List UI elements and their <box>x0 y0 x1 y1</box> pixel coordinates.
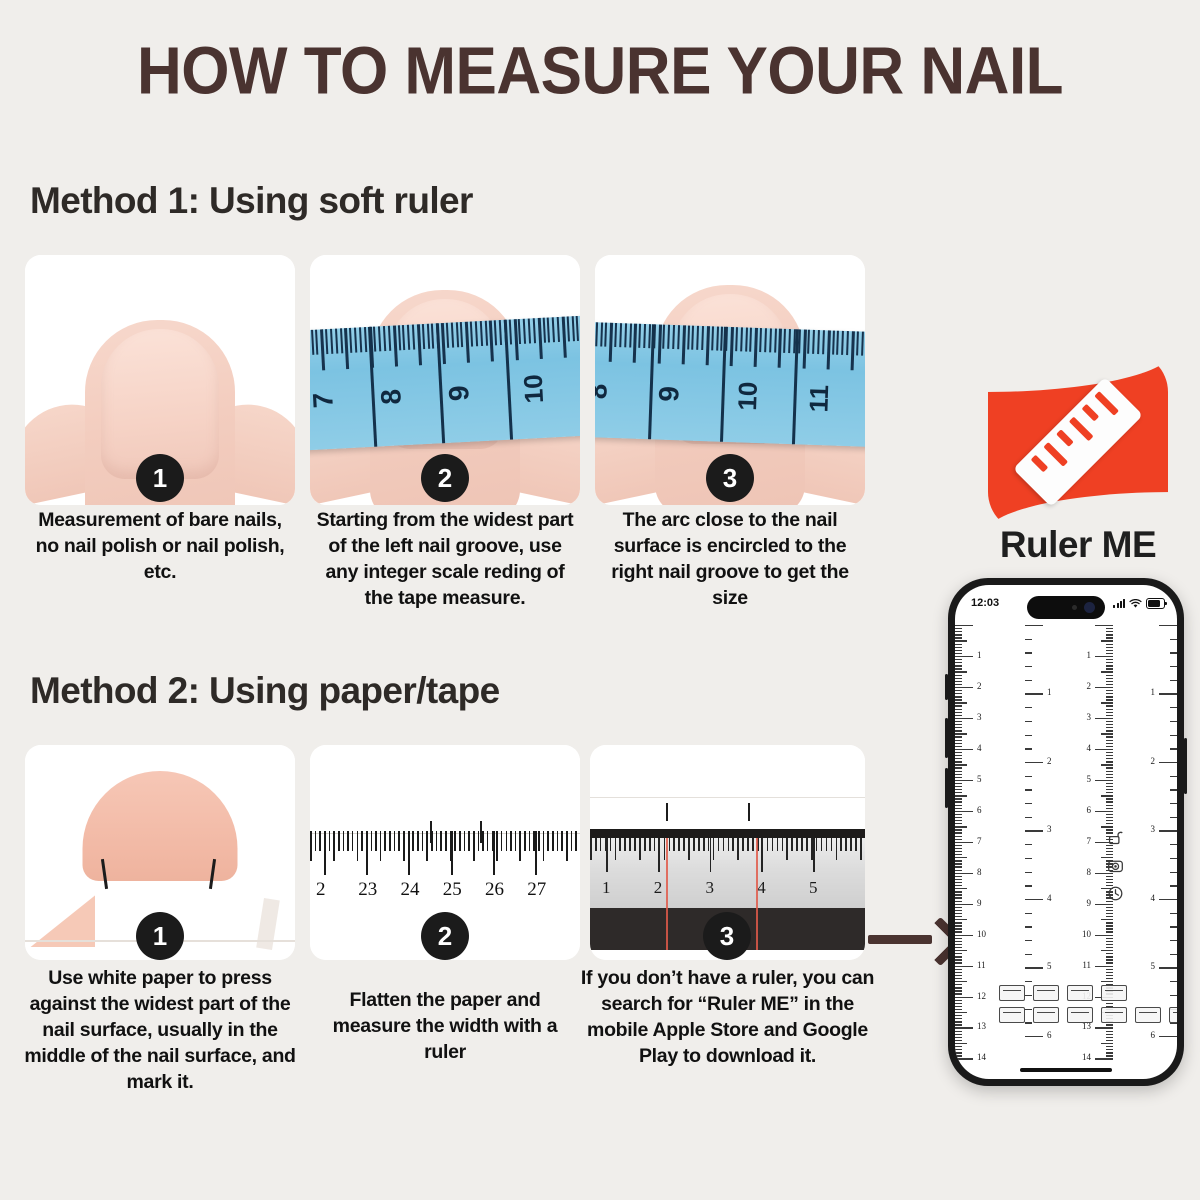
ruler-tick <box>519 831 521 861</box>
ruler-tick <box>683 838 685 851</box>
chip[interactable] <box>1033 1007 1059 1023</box>
ruler-tick <box>1106 953 1113 954</box>
ruler-tick <box>955 1043 967 1044</box>
ruler-number: 6 <box>1047 1030 1052 1040</box>
ruler-number: 27 <box>527 879 546 901</box>
ruler-tick <box>468 831 470 851</box>
ruler-tick <box>361 831 363 851</box>
ruler-tick <box>1025 735 1032 736</box>
ruler-tick <box>1106 879 1113 880</box>
ruler-tick <box>955 938 962 939</box>
tape-tick <box>769 328 772 352</box>
ruler-tick <box>1095 718 1113 719</box>
ruler-tick <box>389 831 391 851</box>
ruler-tick <box>955 801 962 802</box>
ruler-tick <box>1106 767 1113 768</box>
ruler-tick <box>1106 916 1113 917</box>
ruler-tick <box>1025 885 1032 886</box>
tape-tick <box>412 325 415 350</box>
ruler-tick <box>1106 774 1113 775</box>
ruler-tick <box>816 838 818 851</box>
ruler-tick <box>955 665 962 666</box>
ruler-tick <box>1106 854 1113 855</box>
ruler-tick <box>1170 721 1177 722</box>
ruler-tick <box>343 831 345 851</box>
ruler-tick <box>1025 858 1032 859</box>
tape-tick <box>697 326 700 350</box>
ruler-tick <box>1106 922 1113 923</box>
ruler-tick <box>431 831 433 851</box>
ruler-tick <box>955 925 962 926</box>
ruler-number: 13 <box>977 1021 986 1031</box>
ruler-tick <box>955 1021 962 1022</box>
tape-tick <box>856 331 859 355</box>
ruler-tick <box>718 838 720 851</box>
ruler-tick <box>955 1052 962 1053</box>
ruler-major-tick <box>493 831 495 875</box>
ruler-tick <box>352 831 354 851</box>
ruler-number: 4 <box>757 878 766 898</box>
ruler-tick <box>955 919 967 920</box>
ruler-tick <box>619 838 621 851</box>
ruler-tick <box>1170 707 1177 708</box>
ruler-tick <box>850 838 852 851</box>
tape-tick <box>523 319 526 344</box>
ruler-tick <box>1106 662 1113 663</box>
ruler-tick <box>955 1031 962 1032</box>
ruler-tick <box>1106 752 1113 753</box>
chip[interactable] <box>999 985 1025 1001</box>
ruler-tick <box>1106 634 1113 635</box>
ruler-tick <box>955 1034 962 1035</box>
ruler-tick <box>515 831 517 851</box>
tape-tick <box>677 325 680 349</box>
ruler-tick <box>1106 801 1113 802</box>
tape-tick <box>600 322 603 346</box>
ruler-major-tick <box>535 831 537 875</box>
ruler-tick <box>1106 690 1113 691</box>
ruler-tick <box>538 831 540 851</box>
ruler-number: 10 <box>977 929 986 939</box>
ruler-tick <box>524 831 526 851</box>
ruler-tick <box>955 786 962 787</box>
ruler-tick <box>1106 777 1113 778</box>
tape-tick <box>614 323 617 347</box>
ruler-tick <box>1025 872 1032 873</box>
ruler-tick <box>1106 1031 1113 1032</box>
ruler-tick <box>955 873 973 874</box>
ruler-number: 9 <box>1087 898 1092 908</box>
paper-top <box>310 745 580 834</box>
ruler-number: 2 <box>316 879 326 901</box>
ruler-tick <box>955 916 962 917</box>
ruler-tick <box>1025 748 1032 749</box>
ruler-tick <box>1106 798 1113 799</box>
ruler-tick <box>955 820 962 821</box>
ruler-tick <box>955 997 973 998</box>
chip[interactable] <box>1101 1007 1127 1023</box>
ruler-tick <box>1025 844 1032 845</box>
ruler-number: 26 <box>485 879 504 901</box>
ruler-tick <box>955 653 962 654</box>
chip[interactable] <box>1067 1007 1093 1023</box>
ruler-tick <box>955 718 973 719</box>
power-button[interactable] <box>1184 738 1187 794</box>
mute-switch[interactable] <box>945 674 948 700</box>
ruler-number: 6 <box>1087 805 1092 815</box>
step-badge: 2 <box>421 454 469 502</box>
ruler-tick <box>955 696 962 697</box>
tape-tick <box>528 318 531 343</box>
tape-tick <box>364 327 367 352</box>
tape-tick <box>335 329 338 354</box>
tape-tick <box>643 324 646 348</box>
step-badge: 3 <box>703 912 751 960</box>
ruler-tick <box>955 901 962 902</box>
tape-tick <box>595 322 598 346</box>
ruler-tick <box>1025 981 1032 982</box>
ruler-tick <box>1106 1046 1113 1047</box>
tape-tick <box>837 331 840 355</box>
measurement-chip-row-1[interactable] <box>999 985 1127 1001</box>
ruler-tick <box>1106 678 1113 679</box>
ruler-tick <box>737 838 739 860</box>
ruler-number: 5 <box>809 878 818 898</box>
ruler-tick <box>955 978 962 979</box>
ruler-tick <box>955 681 962 682</box>
tape-tick <box>398 325 401 350</box>
ruler-tick <box>955 888 967 889</box>
tape-tick <box>470 322 473 347</box>
ruler-tick <box>1106 956 1113 957</box>
ruler-tick <box>1101 702 1113 703</box>
ruler-major-tick <box>813 838 815 872</box>
ruler-tick <box>955 848 962 849</box>
tape-tick <box>571 316 574 341</box>
ruler-number: 14 <box>1082 1052 1091 1062</box>
ruler-tick <box>1106 882 1113 883</box>
ruler-tick <box>575 831 577 851</box>
ruler-major-tick <box>324 831 326 875</box>
ruler-tick <box>1106 928 1113 929</box>
ruler-tick <box>955 780 973 781</box>
ruler-tick <box>1170 776 1177 777</box>
ruler-tick <box>1170 735 1177 736</box>
ruler-tick <box>501 831 503 851</box>
tape-tick <box>822 330 825 354</box>
ruler-tick <box>1106 925 1113 926</box>
ruler-tick <box>506 831 508 851</box>
ruler-tick <box>1106 907 1113 908</box>
ruler-tick <box>678 838 680 851</box>
ruler-tick <box>955 993 962 994</box>
ruler-number: 23 <box>358 879 377 901</box>
tape-tick <box>518 319 521 344</box>
ruler-tick <box>1106 628 1113 629</box>
ruler-tick <box>1106 823 1113 824</box>
ruler-tick <box>1170 789 1177 790</box>
ruler-tick <box>955 1027 973 1028</box>
ruler-tick <box>1106 975 1113 976</box>
ruler-tick <box>1101 950 1113 951</box>
ruler-tick <box>955 817 962 818</box>
step-badge: 1 <box>136 912 184 960</box>
ruler-tick <box>955 702 967 703</box>
ruler-tick <box>459 831 461 851</box>
ruler-tick <box>1101 1043 1113 1044</box>
ruler-tick <box>752 838 754 851</box>
ruler-tick <box>1170 885 1177 886</box>
ruler-tick <box>1106 647 1113 648</box>
chip[interactable] <box>1101 985 1127 1001</box>
ruler-tick <box>1106 817 1113 818</box>
ruler-tick <box>1106 681 1113 682</box>
ruler-tick <box>1095 656 1113 657</box>
chip[interactable] <box>1067 985 1093 1001</box>
ruler-tick <box>693 838 695 851</box>
ruler-number: 12 <box>977 991 986 1001</box>
tape-tick <box>547 317 550 342</box>
ruler-tick <box>1170 954 1177 955</box>
chip[interactable] <box>1033 985 1059 1001</box>
measurement-chip-row-2[interactable] <box>999 1007 1177 1023</box>
tape-number: 9 <box>653 385 686 402</box>
tape-tick <box>388 326 391 351</box>
ruler-tick <box>1106 938 1113 939</box>
tape-number: 11 <box>804 384 836 413</box>
volume-up-button[interactable] <box>945 718 948 758</box>
tape-tick <box>826 330 830 369</box>
ruler-tick <box>1170 817 1177 818</box>
ruler-tick <box>496 831 498 861</box>
ruler-tick <box>1106 1049 1113 1050</box>
ruler-tick <box>478 831 480 851</box>
tape-tick <box>624 323 627 347</box>
tape-tick <box>701 326 704 350</box>
ruler-tick <box>782 838 784 851</box>
ruler-tick <box>777 838 779 851</box>
ruler-tick <box>955 832 962 833</box>
chip[interactable] <box>1169 1007 1177 1023</box>
tape-tick <box>407 325 410 350</box>
ruler-tick <box>1106 721 1113 722</box>
ruler-tick <box>1106 910 1113 911</box>
ruler-tick <box>487 831 489 851</box>
ruler-tick <box>955 947 962 948</box>
ruler-tick <box>1106 705 1113 706</box>
ruler-tick <box>955 811 973 812</box>
ruler-tick <box>1106 947 1113 948</box>
clock-icon[interactable] <box>1107 885 1124 902</box>
tape-tick <box>754 328 758 367</box>
ruler-tick <box>955 752 962 753</box>
ruler-tick <box>1095 625 1113 626</box>
ruler-number: 8 <box>977 867 982 877</box>
ruler-tick <box>801 838 803 851</box>
ruler-tick <box>860 838 862 860</box>
ruler-tick <box>1106 848 1113 849</box>
ruler-tick <box>1159 830 1177 831</box>
ruler-tick <box>454 831 456 851</box>
unlock-icon[interactable] <box>1107 829 1124 846</box>
camera-icon[interactable] <box>1107 857 1124 874</box>
ruler-tick <box>422 831 424 851</box>
ruler-tick <box>673 838 675 851</box>
ruler-tick <box>547 831 549 851</box>
ruler-tick <box>955 637 962 638</box>
ruler-number: 1 <box>1151 687 1156 697</box>
ruler-tick <box>624 838 626 851</box>
tape-tick <box>672 325 675 349</box>
ruler-tick <box>464 831 466 851</box>
ruler-tick <box>955 839 962 840</box>
ruler-tick <box>955 733 967 734</box>
tape-tick <box>832 331 835 355</box>
tape-tick <box>427 324 430 349</box>
ruler-tick <box>1025 830 1043 831</box>
ruler-tick <box>595 838 597 851</box>
ruler-tick <box>1170 995 1177 996</box>
ruler-tick <box>955 749 973 750</box>
ruler-tick <box>791 838 793 851</box>
ruler-tick <box>955 1037 962 1038</box>
ruler-tick <box>403 831 405 861</box>
ruler-major-tick <box>710 838 712 872</box>
ruler-tick <box>806 838 808 851</box>
ruler-tick <box>1106 699 1113 700</box>
ruler-tick <box>955 758 962 759</box>
proximity-sensor-icon <box>1072 605 1077 610</box>
ruler-tick <box>543 831 545 861</box>
ruler-tick <box>1106 1003 1113 1004</box>
ruler-tick <box>955 693 962 694</box>
ruler-tick <box>529 831 531 851</box>
volume-down-button[interactable] <box>945 768 948 808</box>
tape-tick <box>475 321 478 346</box>
ruler-tick <box>1170 844 1177 845</box>
ruler-tick <box>436 831 438 851</box>
tape-tick <box>841 331 844 355</box>
tape-tick <box>778 329 782 368</box>
red-guide-right <box>756 838 758 950</box>
ruler-tick <box>1101 981 1113 982</box>
tape-tick <box>851 331 855 370</box>
infographic-root: HOW TO MEASURE YOUR NAIL Method 1: Using… <box>0 0 1200 1200</box>
ruler-tick <box>1170 926 1177 927</box>
ruler-tick <box>955 950 967 951</box>
ruler-number: 4 <box>1151 893 1156 903</box>
method2-step3-caption: If you don’t have a ruler, you can searc… <box>580 966 875 1070</box>
ruler-number: 24 <box>400 879 419 901</box>
ruler-tick <box>629 838 631 851</box>
chip[interactable] <box>1135 1007 1161 1023</box>
ruler-tick <box>955 730 962 731</box>
ruler-tick <box>1106 931 1113 932</box>
app-name-label: Ruler ME <box>940 524 1200 566</box>
ruler-tick <box>955 699 962 700</box>
ruler-tick <box>831 838 833 851</box>
ruler-tick <box>955 823 962 824</box>
ruler-tick <box>1170 748 1177 749</box>
ruler-number: 25 <box>443 879 462 901</box>
ruler-tick <box>1025 652 1032 653</box>
ruler-tick <box>1106 1037 1113 1038</box>
ruler-tick <box>955 625 973 626</box>
ruler-tick <box>1170 858 1177 859</box>
ruler-tick <box>955 715 962 716</box>
ruler-tick <box>955 826 967 827</box>
tape-tick <box>759 328 762 352</box>
ruler-tick <box>955 671 967 672</box>
ruler-tick <box>1106 715 1113 716</box>
ruler-tick <box>955 1049 962 1050</box>
ruler-tick <box>955 829 962 830</box>
ruler-number: 7 <box>977 836 982 846</box>
ruler-tick <box>1106 659 1113 660</box>
ruler-tick <box>1106 740 1113 741</box>
ruler-tick <box>1025 913 1032 914</box>
ruler-tick <box>955 783 962 784</box>
ruler-tick <box>1106 755 1113 756</box>
ruler-app-icon[interactable] <box>988 352 1168 532</box>
ruler-scale-right: 123456 <box>1123 619 1177 1057</box>
ruler-tick <box>955 687 973 688</box>
tape-tick <box>340 328 343 353</box>
ruler-tick <box>1095 1058 1113 1059</box>
ruler-tick <box>955 668 962 669</box>
ruler-tick <box>1025 625 1043 626</box>
ruler-tick <box>955 727 962 728</box>
tape-number: 8 <box>595 383 614 400</box>
ruler-tick <box>1025 776 1032 777</box>
ruler-tick <box>1025 680 1032 681</box>
ruler-tick <box>955 913 962 914</box>
ruler-tick <box>955 953 962 954</box>
tape-tick <box>354 328 357 353</box>
ruler-tick <box>1025 926 1032 927</box>
tape-tick <box>533 318 536 343</box>
tape-tick <box>735 327 738 351</box>
ruler-tick <box>1025 639 1032 640</box>
ruler-number: 8 <box>1087 867 1092 877</box>
tape-tick <box>605 323 608 347</box>
tape-tick <box>639 324 642 348</box>
ruler-tick <box>1025 707 1032 708</box>
ruler-tick <box>1106 758 1113 759</box>
page-title: HOW TO MEASURE YOUR NAIL <box>0 33 1200 110</box>
ruler-tick <box>1106 712 1113 713</box>
tape-tick <box>861 332 864 356</box>
ruler-tick <box>955 904 973 905</box>
chip[interactable] <box>999 1007 1025 1023</box>
ruler-tick <box>1106 808 1113 809</box>
ruler-number: 2 <box>1047 756 1052 766</box>
ruler-tick <box>955 746 962 747</box>
ruler-tick <box>1106 944 1113 945</box>
phone-screen[interactable]: 12:03 1234567891011121314 123456 1234567… <box>955 585 1177 1079</box>
ruler-number: 6 <box>977 805 982 815</box>
tape-tick <box>812 330 815 354</box>
tape-tick <box>451 323 454 348</box>
tape-tick <box>378 326 381 351</box>
ruler-major-tick <box>408 831 410 875</box>
ruler-number: 11 <box>1082 960 1091 970</box>
tape-tick <box>499 320 502 345</box>
ruler-tick <box>955 789 962 790</box>
mark-left <box>666 803 668 821</box>
ruler-tick <box>698 838 700 851</box>
ruler-tick <box>1106 650 1113 651</box>
